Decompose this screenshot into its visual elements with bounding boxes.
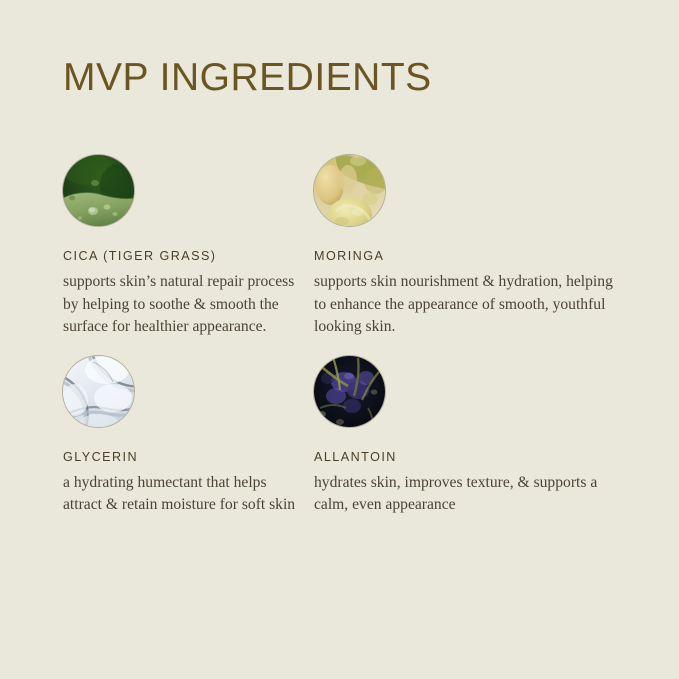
ingredient-name: GLYCERIN [63, 450, 305, 465]
ingredient-description: a hydrating humectant that helps attract… [63, 472, 305, 517]
ingredient-description: hydrates skin, improves texture, & suppo… [314, 472, 624, 517]
ingredient-name: MORINGA [314, 249, 679, 264]
ingredient-name: CICA (TIGER GRASS) [63, 249, 305, 264]
ingredient-description: supports skin nourishment & hydration, h… [314, 271, 624, 339]
ingredients-grid: CICA (TIGER GRASS) supports skin’s natur… [0, 155, 679, 517]
ingredient-card-moringa: MORINGA supports skin nourishment & hydr… [305, 155, 679, 339]
ingredient-name: ALLANTOIN [314, 450, 679, 465]
page-title: MVP INGREDIENTS [63, 57, 432, 100]
ingredients-row-top: CICA (TIGER GRASS) supports skin’s natur… [0, 155, 679, 339]
cica-leaf-swatch [63, 155, 134, 226]
ingredient-card-allantoin: ALLANTOIN hydrates skin, improves textur… [305, 356, 679, 517]
ingredient-card-cica: CICA (TIGER GRASS) supports skin’s natur… [0, 155, 305, 339]
ingredients-row-bottom: GLYCERIN a hydrating humectant that help… [0, 356, 679, 517]
allantoin-comfrey-swatch [314, 356, 385, 427]
ingredient-card-glycerin: GLYCERIN a hydrating humectant that help… [0, 356, 305, 517]
moringa-pod-swatch [314, 155, 385, 226]
ingredient-description: supports skin’s natural repair process b… [63, 271, 305, 339]
ingredients-infographic: MVP INGREDIENTS [0, 0, 679, 679]
glycerin-gel-swatch [63, 356, 134, 427]
